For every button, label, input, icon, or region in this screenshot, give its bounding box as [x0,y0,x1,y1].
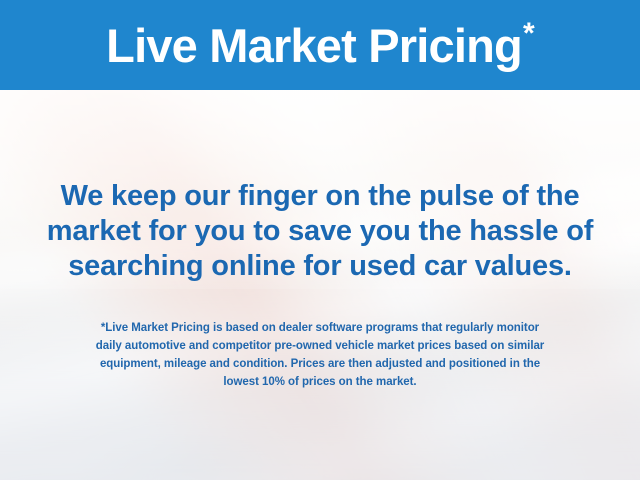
headline: We keep our finger on the pulse of the m… [24,179,616,284]
live-market-pricing-banner: Live Market Pricing* We keep our finger … [0,0,640,480]
content-area: We keep our finger on the pulse of the m… [0,89,640,480]
headline-line-3: searching online for used car values. [24,249,616,284]
disclaimer-line-3: equipment, mileage and condition. Prices… [20,355,620,373]
disclaimer-line-4: lowest 10% of prices on the market. [20,373,620,391]
headline-line-1: We keep our finger on the pulse of the [24,179,616,214]
page-title-asterisk: * [523,19,534,49]
header-bar: Live Market Pricing* [0,0,640,90]
disclaimer-line-1: *Live Market Pricing is based on dealer … [20,319,620,337]
page-title-text: Live Market Pricing [106,22,522,69]
disclaimer-line-2: daily automotive and competitor pre-owne… [20,337,620,355]
page-title: Live Market Pricing* [0,0,640,90]
headline-line-2: market for you to save you the hassle of [24,214,616,249]
disclaimer: *Live Market Pricing is based on dealer … [20,319,620,391]
